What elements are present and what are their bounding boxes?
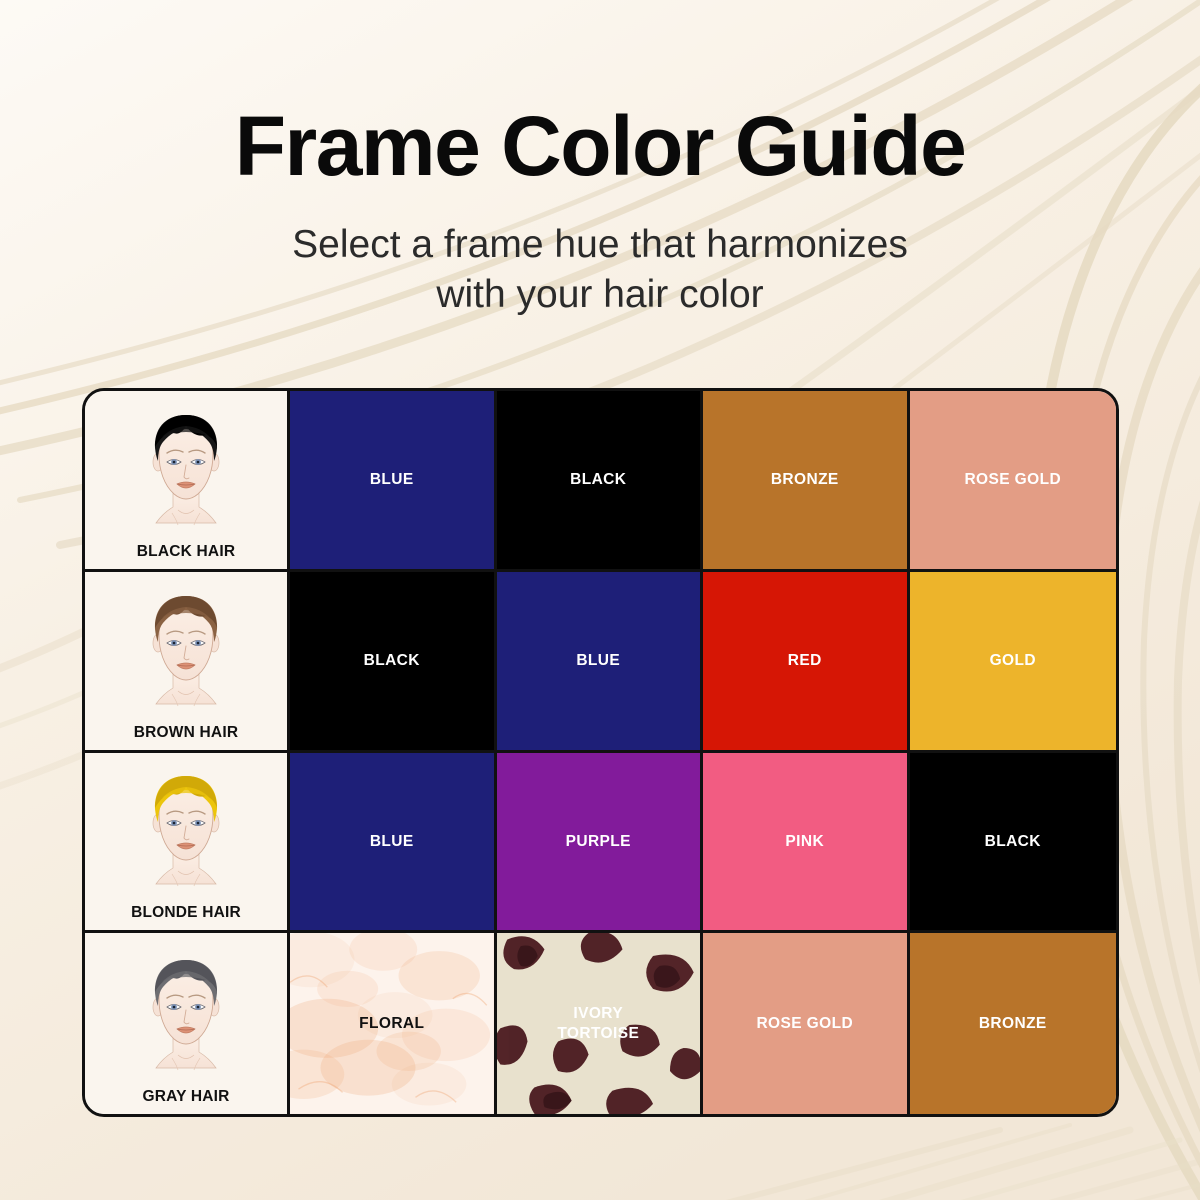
swatch-brown-hair-black[interactable]: BLACK	[290, 572, 497, 753]
hair-type-label: BROWN HAIR	[134, 724, 238, 742]
hair-cell-gray-hair: GRAY HAIR	[85, 933, 290, 1114]
hair-type-label: BLACK HAIR	[137, 543, 235, 561]
swatch-label: BLACK	[570, 470, 626, 489]
swatch-black-hair-blue[interactable]: BLUE	[290, 391, 497, 572]
swatch-label: ROSE GOLD	[756, 1014, 853, 1033]
face-gray-hair-icon	[110, 952, 262, 1086]
swatch-black-hair-rose-gold[interactable]: ROSE GOLD	[910, 391, 1117, 572]
face-blonde-hair-icon	[110, 768, 262, 902]
hair-type-label: BLONDE HAIR	[131, 904, 241, 922]
swatch-gray-hair-bronze[interactable]: BRONZE	[910, 933, 1117, 1114]
frame-color-grid: BLACK HAIRBLUEBLACKBRONZEROSE GOLD	[82, 388, 1119, 1117]
swatch-brown-hair-gold[interactable]: GOLD	[910, 572, 1117, 753]
swatch-label: BLACK	[985, 832, 1041, 851]
swatch-label: BLUE	[370, 470, 414, 489]
face-black-hair-icon	[110, 407, 262, 541]
swatch-blonde-hair-pink[interactable]: PINK	[703, 753, 910, 934]
swatch-label: RED	[788, 651, 822, 670]
hair-type-label: GRAY HAIR	[142, 1088, 229, 1106]
swatch-label: ROSE GOLD	[964, 470, 1061, 489]
swatch-label: PINK	[785, 832, 824, 851]
swatch-label: BLUE	[576, 651, 620, 670]
swatch-black-hair-bronze[interactable]: BRONZE	[703, 391, 910, 572]
swatch-brown-hair-red[interactable]: RED	[703, 572, 910, 753]
page-subtitle-line-2: with your hair color	[436, 273, 763, 316]
swatch-gray-hair-floral[interactable]: FLORAL	[290, 933, 497, 1114]
swatch-label: IVORYTORTOISE	[557, 1004, 639, 1043]
swatch-blonde-hair-black[interactable]: BLACK	[910, 753, 1117, 934]
swatch-brown-hair-blue[interactable]: BLUE	[497, 572, 704, 753]
swatch-label: FLORAL	[359, 1014, 424, 1033]
hair-cell-black-hair: BLACK HAIR	[85, 391, 290, 572]
face-brown-hair-icon	[110, 588, 262, 722]
swatch-label: BRONZE	[979, 1014, 1047, 1033]
page-header: Frame Color Guide Select a frame hue tha…	[0, 0, 1200, 320]
swatch-label: BLUE	[370, 832, 414, 851]
page-title: Frame Color Guide	[0, 102, 1200, 190]
swatch-blonde-hair-purple[interactable]: PURPLE	[497, 753, 704, 934]
swatch-label: GOLD	[990, 651, 1036, 670]
page-subtitle: Select a frame hue that harmonizes with …	[0, 220, 1200, 320]
page-subtitle-line-1: Select a frame hue that harmonizes	[292, 223, 908, 266]
swatch-blonde-hair-blue[interactable]: BLUE	[290, 753, 497, 934]
swatch-gray-hair-rose-gold[interactable]: ROSE GOLD	[703, 933, 910, 1114]
hair-cell-blonde-hair: BLONDE HAIR	[85, 753, 290, 934]
swatch-gray-hair-ivory-tortoise[interactable]: IVORYTORTOISE	[497, 933, 704, 1114]
swatch-label: PURPLE	[566, 832, 631, 851]
hair-cell-brown-hair: BROWN HAIR	[85, 572, 290, 753]
swatch-black-hair-black[interactable]: BLACK	[497, 391, 704, 572]
swatch-label: BLACK	[364, 651, 420, 670]
swatch-label: BRONZE	[771, 470, 839, 489]
